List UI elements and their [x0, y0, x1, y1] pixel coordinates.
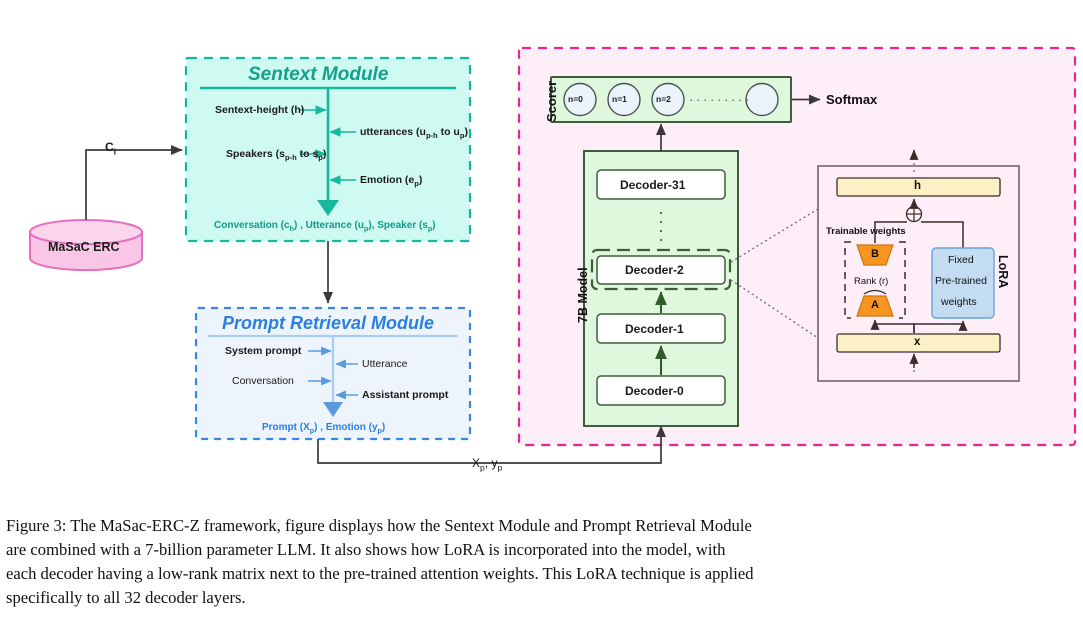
edge-db-to-sentext [86, 150, 182, 220]
decoder-2-label: Decoder-2 [625, 263, 684, 277]
decoder-0-label: Decoder-0 [625, 384, 684, 398]
sentext-module-output: Conversation (ch) , Utterance (up), Spea… [214, 220, 436, 233]
figure-canvas: MaSaC ERC Ci Sentext Module Sentext-heig… [0, 0, 1083, 505]
scorer-node-1-label: n=1 [612, 94, 627, 104]
edge-label-ci: Ci [105, 140, 116, 156]
sentext-input-sentext-height: Sentext-height (h) [215, 104, 304, 116]
lora-side-label: LoRA [996, 255, 1010, 288]
scorer-side-label: Scorer [544, 81, 559, 122]
sentext-module-title: Sentext Module [248, 64, 388, 86]
caption-line-2: are combined with a 7-billion parameter … [6, 538, 1068, 562]
trainable-weights-label: Trainable weights [826, 226, 906, 237]
lora-x-label: x [914, 336, 920, 348]
prompt-module-output: Prompt (Xp) , Emotion (yp) [262, 422, 385, 435]
scorer-node-0-label: n=0 [568, 94, 583, 104]
caption-line-4: specifically to all 32 decoder layers. [6, 586, 1068, 610]
decoder-1-label: Decoder-1 [625, 322, 684, 336]
rank-label: Rank (r) [854, 276, 888, 287]
sentext-input-emotion: Emotion (ep) [360, 174, 422, 188]
fixed-weights-line-3: weights [941, 296, 977, 308]
prompt-input-utterance: Utterance [362, 358, 408, 370]
caption-line-1: Figure 3: The MaSac-ERC-Z framework, fig… [6, 514, 1068, 538]
sentext-input-speakers: Speakers (sp-h to sp) [226, 148, 326, 162]
prompt-input-assistant-prompt: Assistant prompt [362, 389, 448, 401]
scorer-ellipsis: . . . . . . . . . [690, 93, 750, 103]
lora-matrix-b-label: B [871, 248, 879, 260]
fixed-weights-line-1: Fixed [948, 254, 974, 266]
feedback-edge-label: Xp, yp [472, 456, 502, 472]
prompt-input-system-prompt: System prompt [225, 345, 301, 357]
prompt-input-conversation: Conversation [232, 375, 294, 387]
lora-matrix-a-label: A [871, 299, 879, 311]
model-side-label: 7B Model [576, 267, 590, 323]
caption-line-3: each decoder having a low-rank matrix ne… [6, 562, 1068, 586]
figure-caption: Figure 3: The MaSac-ERC-Z framework, fig… [6, 514, 1068, 610]
figure-vector-layer [0, 0, 1083, 505]
fixed-weights-line-2: Pre-trained [935, 275, 987, 287]
database-label: MaSaC ERC [48, 240, 120, 254]
lora-h-label: h [914, 180, 921, 192]
prompt-module-title: Prompt Retrieval Module [222, 313, 434, 334]
decoder-31-label: Decoder-31 [620, 178, 685, 192]
scorer-node-2-label: n=2 [656, 94, 671, 104]
scorer-node-7 [746, 84, 778, 116]
sentext-input-utterances: utterances (up-h to up) [360, 126, 468, 140]
softmax-label: Softmax [826, 92, 877, 107]
